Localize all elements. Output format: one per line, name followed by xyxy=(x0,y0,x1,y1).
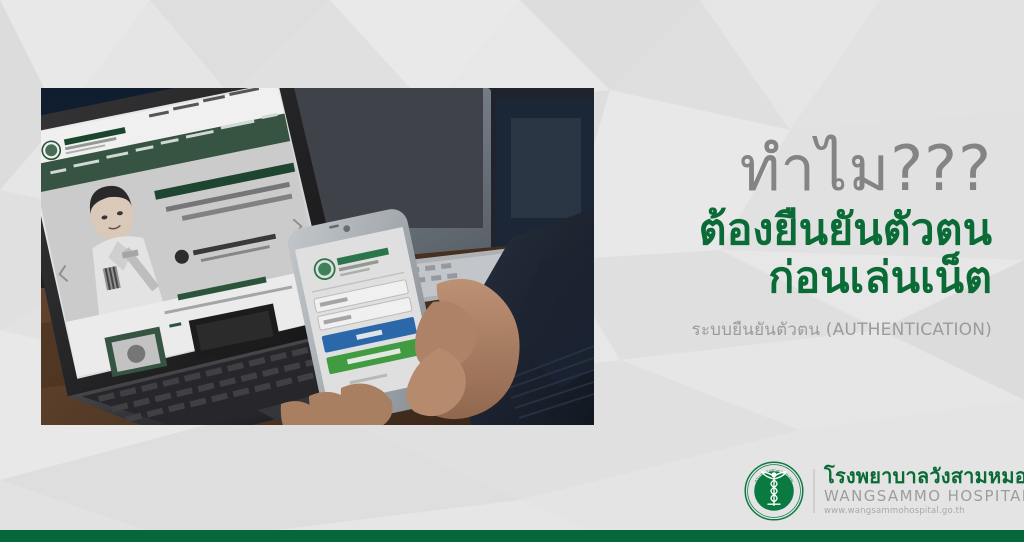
logo-text-block: โรงพยาบาลวังสามหมอ WANGSAMMO HOSPITAL ww… xyxy=(824,466,1024,516)
hospital-name-th: โรงพยาบาลวังสามหมอ xyxy=(824,466,1024,486)
hospital-name-en: WANGSAMMO HOSPITAL xyxy=(824,489,1024,504)
bottom-accent-bar xyxy=(0,530,1024,542)
banner-copy: ทำไม??? ต้องยืนยันตัวตน ก่อนเล่นเน็ต ระบ… xyxy=(600,138,992,343)
banner-subtitle: ระบบยืนยันตัวตน (AUTHENTICATION) xyxy=(600,316,992,343)
hospital-website: www.wangsammohospital.go.th xyxy=(824,507,1024,516)
ministry-of-public-health-seal-icon: กระทรวงสาธารณสุข MINISTRY OF PUBLIC HEAL… xyxy=(744,461,804,521)
headline-line-1: ต้องยืนยันตัวตน xyxy=(600,206,992,254)
hero-photo xyxy=(41,88,594,425)
banner-canvas: ทำไม??? ต้องยืนยันตัวตน ก่อนเล่นเน็ต ระบ… xyxy=(0,0,1024,542)
hero-photo-artwork xyxy=(41,88,594,425)
hospital-logo-lockup: กระทรวงสาธารณสุข MINISTRY OF PUBLIC HEAL… xyxy=(744,461,1024,521)
logo-divider xyxy=(813,469,815,513)
question-heading: ทำไม??? xyxy=(600,138,992,200)
headline-line-2: ก่อนเล่นเน็ต xyxy=(600,254,992,302)
